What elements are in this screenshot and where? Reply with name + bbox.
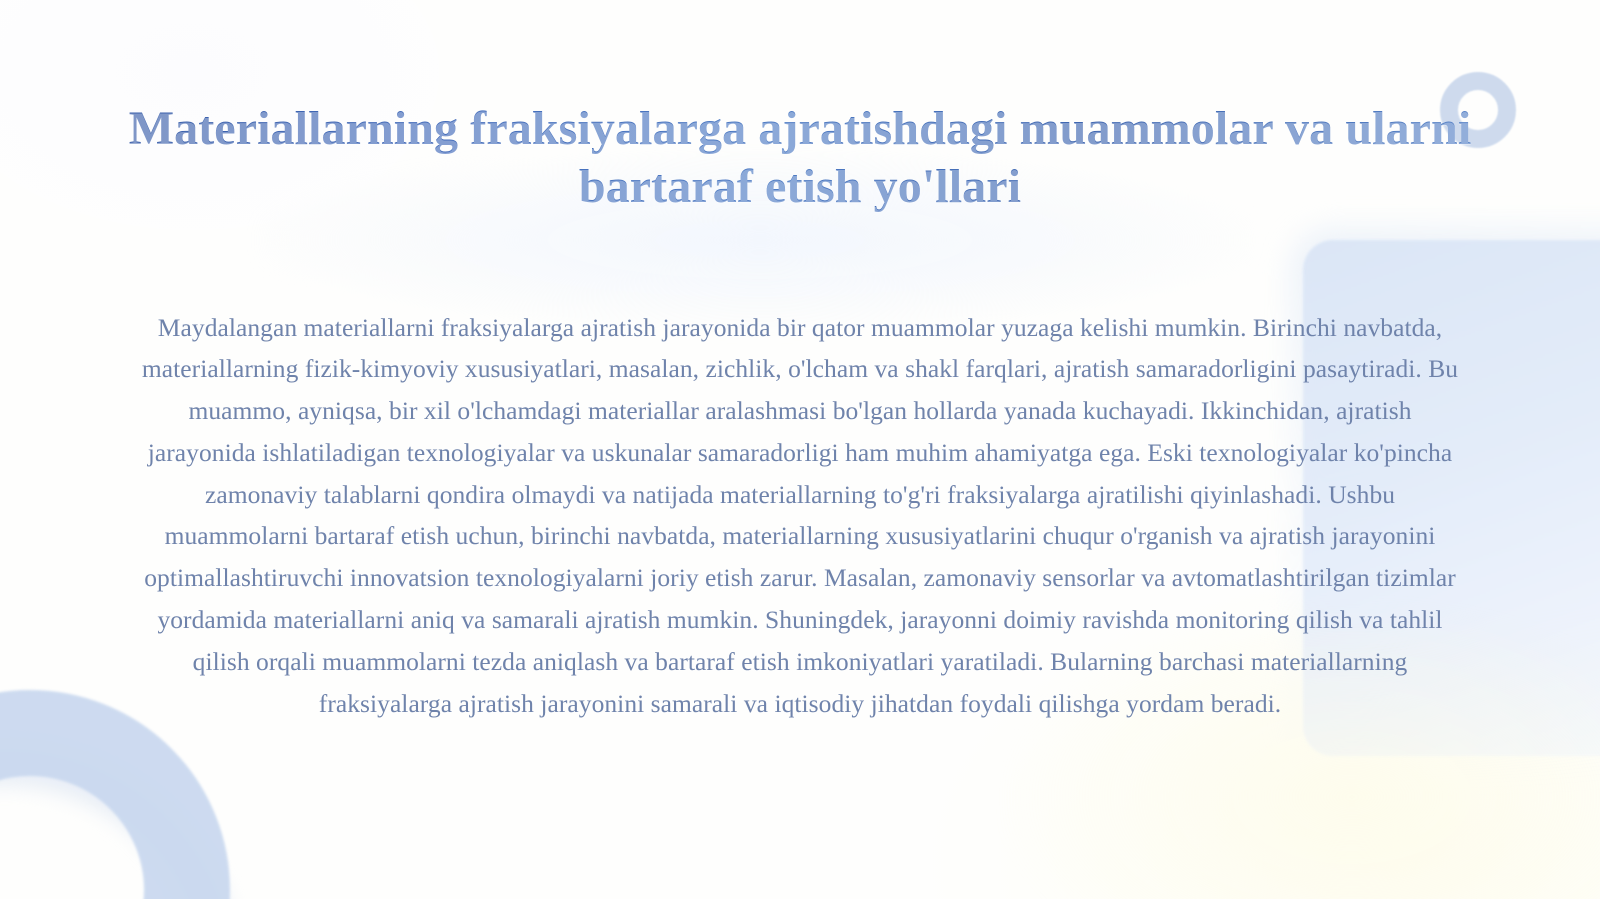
- slide-title: Materiallarning fraksiyalarga ajratishda…: [100, 100, 1500, 215]
- slide-content: Materiallarning fraksiyalarga ajratishda…: [0, 0, 1600, 899]
- presentation-slide: Materiallarning fraksiyalarga ajratishda…: [0, 0, 1600, 899]
- slide-body-paragraph: Maydalangan materiallarni fraksiyalarga …: [140, 307, 1460, 725]
